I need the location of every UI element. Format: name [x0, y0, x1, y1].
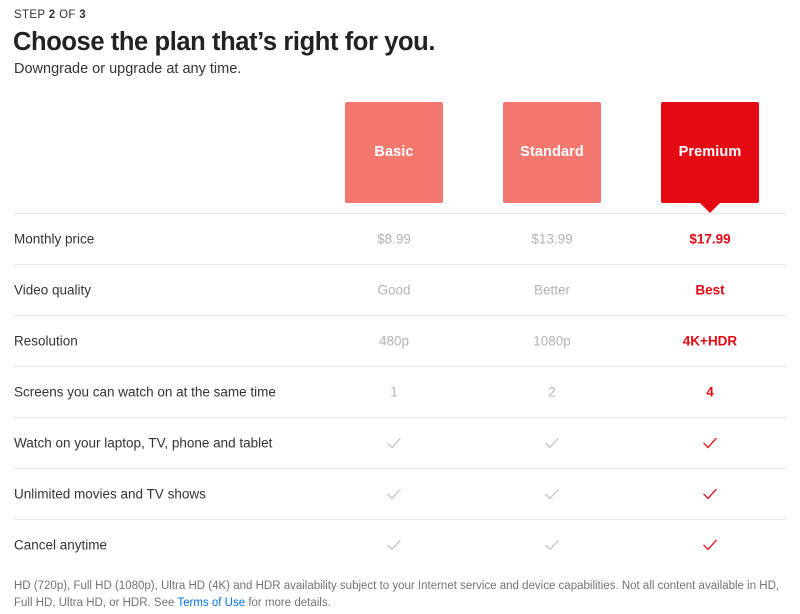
table-row: Screens you can watch on at the same tim…: [14, 366, 786, 417]
cell-standard: 2: [492, 385, 612, 399]
plan-card-premium[interactable]: Premium: [661, 102, 759, 203]
check-icon: [702, 435, 718, 451]
cell-premium: 4K+HDR: [650, 334, 770, 348]
cell-premium: Best: [650, 283, 770, 297]
feature-label: Monthly price: [14, 232, 94, 247]
cell-basic: $8.99: [334, 232, 454, 246]
cell-basic: [334, 537, 454, 553]
cell-premium: [650, 435, 770, 451]
check-icon: [386, 486, 402, 502]
feature-label: Screens you can watch on at the same tim…: [14, 385, 276, 400]
cell-basic: 480p: [334, 334, 454, 348]
table-row: Resolution 480p 1080p 4K+HDR: [14, 315, 786, 366]
check-icon: [702, 486, 718, 502]
check-icon: [386, 435, 402, 451]
cell-premium: [650, 537, 770, 553]
step-current-number: 2: [49, 9, 56, 21]
cell-standard: 1080p: [492, 334, 612, 348]
cell-premium: [650, 486, 770, 502]
cell-basic: [334, 435, 454, 451]
cell-standard: [492, 435, 612, 451]
feature-label: Video quality: [14, 283, 91, 298]
check-icon: [544, 537, 560, 553]
step-total-number: 3: [79, 9, 86, 21]
plan-name-premium: Premium: [679, 145, 742, 160]
page-subtitle: Downgrade or upgrade at any time.: [14, 61, 241, 77]
plan-name-standard: Standard: [520, 145, 584, 160]
feature-label: Watch on your laptop, TV, phone and tabl…: [14, 436, 272, 451]
plan-card-group: Basic Standard Premium: [0, 102, 800, 214]
cell-basic: 1: [334, 385, 454, 399]
feature-label: Cancel anytime: [14, 538, 107, 553]
cell-basic: Good: [334, 283, 454, 297]
step-prefix-label: STEP: [14, 9, 45, 21]
feature-label: Resolution: [14, 334, 78, 349]
table-row: Cancel anytime: [14, 519, 786, 570]
table-row: Monthly price $8.99 $13.99 $17.99: [14, 213, 786, 264]
footnote-text-after: for more details.: [245, 597, 331, 609]
legal-footnote: HD (720p), Full HD (1080p), Ultra HD (4K…: [14, 578, 786, 611]
cell-premium: 4: [650, 385, 770, 399]
check-icon: [544, 486, 560, 502]
cell-standard: $13.99: [492, 232, 612, 246]
cell-standard: Better: [492, 283, 612, 297]
step-of-label: OF: [59, 9, 76, 21]
plan-card-standard[interactable]: Standard: [503, 102, 601, 203]
cell-standard: [492, 537, 612, 553]
cell-premium: $17.99: [650, 232, 770, 246]
terms-of-use-link[interactable]: Terms of Use: [177, 597, 245, 609]
plan-comparison-table: Monthly price $8.99 $13.99 $17.99 Video …: [0, 213, 800, 570]
cell-basic: [334, 486, 454, 502]
plan-name-basic: Basic: [374, 145, 413, 160]
check-icon: [702, 537, 718, 553]
check-icon: [386, 537, 402, 553]
table-row: Video quality Good Better Best: [14, 264, 786, 315]
plan-card-basic[interactable]: Basic: [345, 102, 443, 203]
cell-standard: [492, 486, 612, 502]
table-row: Watch on your laptop, TV, phone and tabl…: [14, 417, 786, 468]
selected-plan-pointer-icon: [699, 202, 721, 213]
plan-selection-page: STEP 2 OF 3 Choose the plan that’s right…: [0, 0, 800, 614]
footnote-text-before: HD (720p), Full HD (1080p), Ultra HD (4K…: [14, 580, 779, 609]
page-title: Choose the plan that’s right for you.: [13, 28, 435, 57]
table-row: Unlimited movies and TV shows: [14, 468, 786, 519]
step-indicator: STEP 2 OF 3: [14, 9, 86, 21]
check-icon: [544, 435, 560, 451]
feature-label: Unlimited movies and TV shows: [14, 487, 206, 502]
